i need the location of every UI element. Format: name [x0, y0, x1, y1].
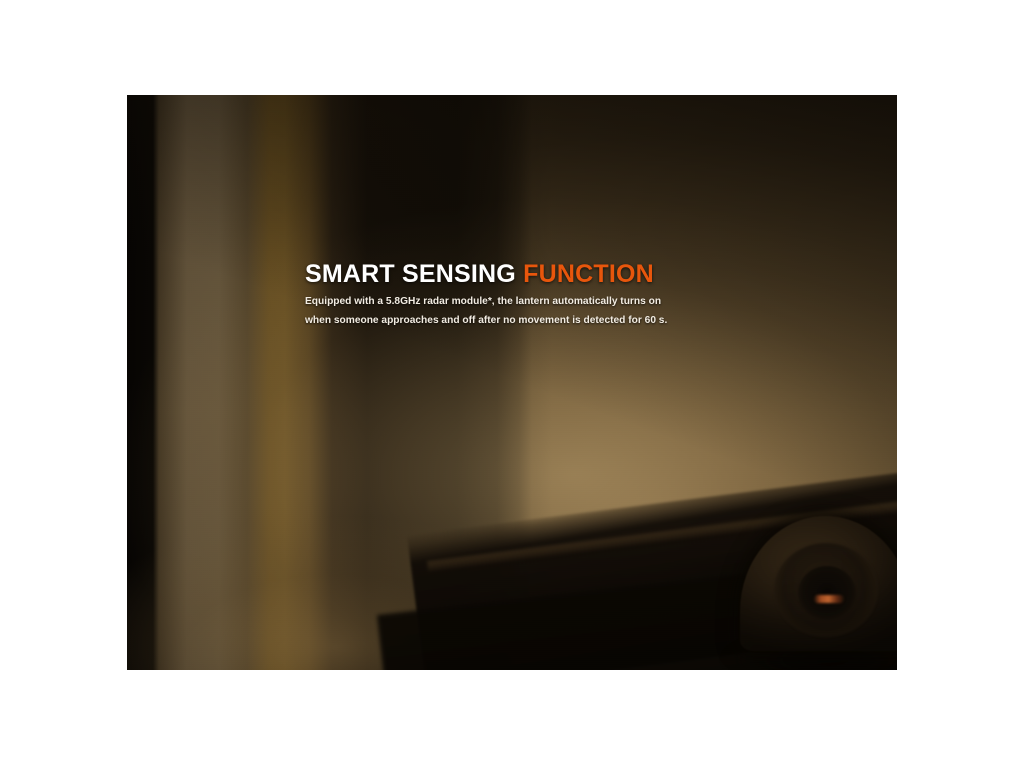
body-description: Equipped with a 5.8GHz radar module*, th…	[305, 293, 677, 330]
lantern-product	[740, 516, 897, 651]
lantern-inner-ring	[798, 566, 856, 620]
slide-page: SMART SENSING FUNCTION Equipped with a 5…	[0, 0, 1024, 768]
product-photo: SMART SENSING FUNCTION Equipped with a 5…	[127, 95, 897, 670]
headline-accent-text: FUNCTION	[523, 260, 654, 288]
lantern-glow-light	[814, 595, 844, 603]
page-title: SMART SENSING FUNCTION	[305, 262, 654, 287]
headline-main-text: SMART SENSING	[305, 260, 516, 288]
